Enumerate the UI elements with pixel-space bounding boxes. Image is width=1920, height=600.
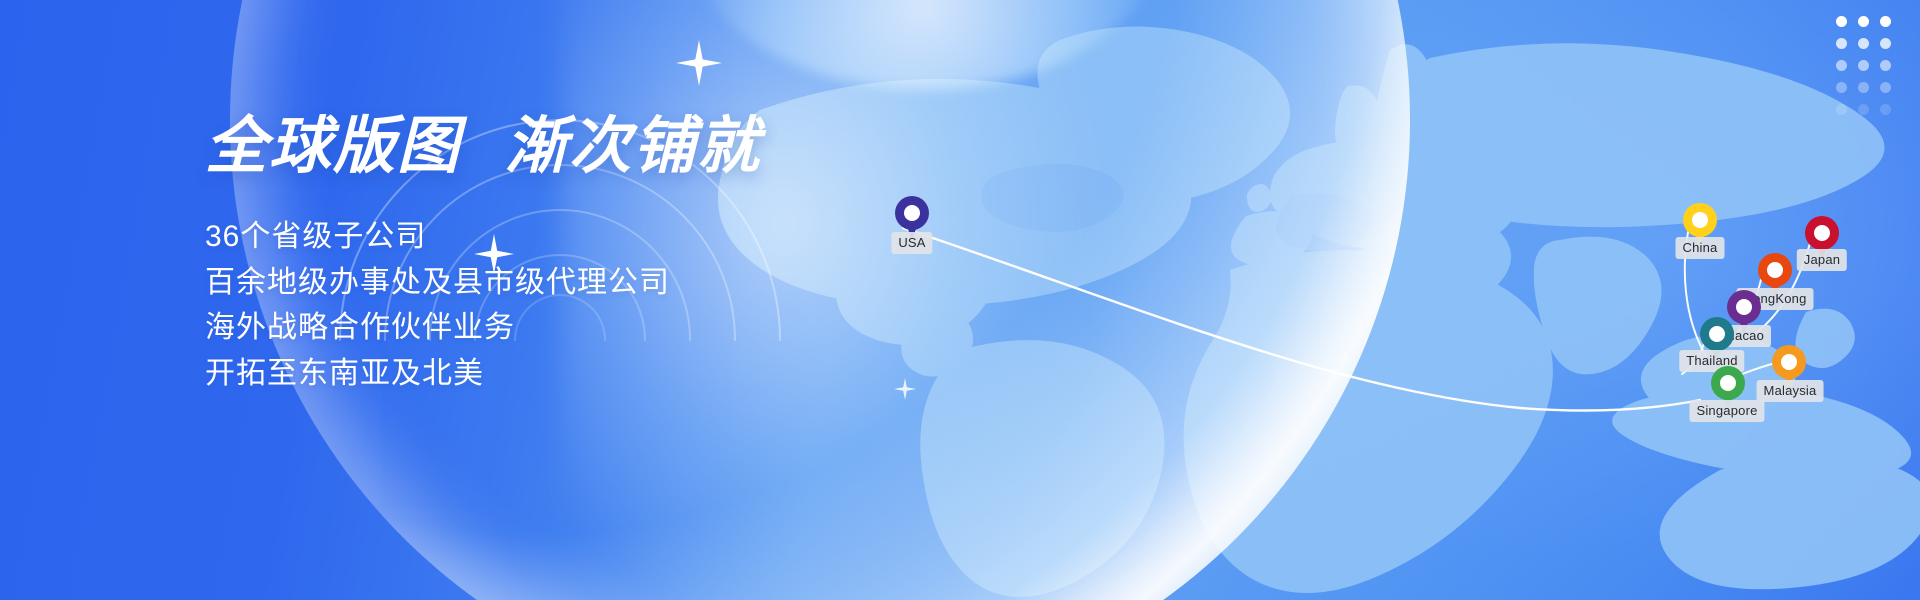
global-map-banner: 全球版图 渐次铺就 36个省级子公司 百余地级办事处及县市级代理公司 海外战略合… <box>0 0 1920 600</box>
pin-center-dot <box>1709 326 1725 342</box>
page-title: 全球版图 渐次铺就 <box>205 116 925 178</box>
pin-center-dot <box>904 205 920 221</box>
headline-part-1: 全球版图 <box>205 116 461 178</box>
subtitle-list: 36个省级子公司 百余地级办事处及县市级代理公司 海外战略合作伙伴业务 开拓至东… <box>205 214 925 396</box>
pin-center-dot <box>1814 225 1830 241</box>
subtitle-line-2: 百余地级办事处及县市级代理公司 <box>205 260 925 306</box>
pin-center-dot <box>1692 212 1708 228</box>
pin-center-dot <box>1736 299 1752 315</box>
subtitle-line-3: 海外战略合作伙伴业务 <box>205 305 925 351</box>
pin-center-dot <box>1781 354 1797 370</box>
copy-block: 全球版图 渐次铺就 36个省级子公司 百余地级办事处及县市级代理公司 海外战略合… <box>205 116 925 396</box>
map-pin-label-japan: Japan <box>1797 249 1847 271</box>
subtitle-line-1: 36个省级子公司 <box>205 214 925 260</box>
map-pin-label-china: China <box>1676 237 1725 259</box>
map-pin-label-singapore: Singapore <box>1689 400 1764 422</box>
map-pin-label-malaysia: Malaysia <box>1757 380 1824 402</box>
headline-part-2: 渐次铺就 <box>505 116 761 178</box>
map-pin-label-usa: USA <box>891 232 932 254</box>
pin-center-dot <box>1767 262 1783 278</box>
dot-grid-icon <box>1830 10 1896 120</box>
subtitle-line-4: 开拓至东南亚及北美 <box>205 351 925 397</box>
pin-center-dot <box>1720 375 1736 391</box>
